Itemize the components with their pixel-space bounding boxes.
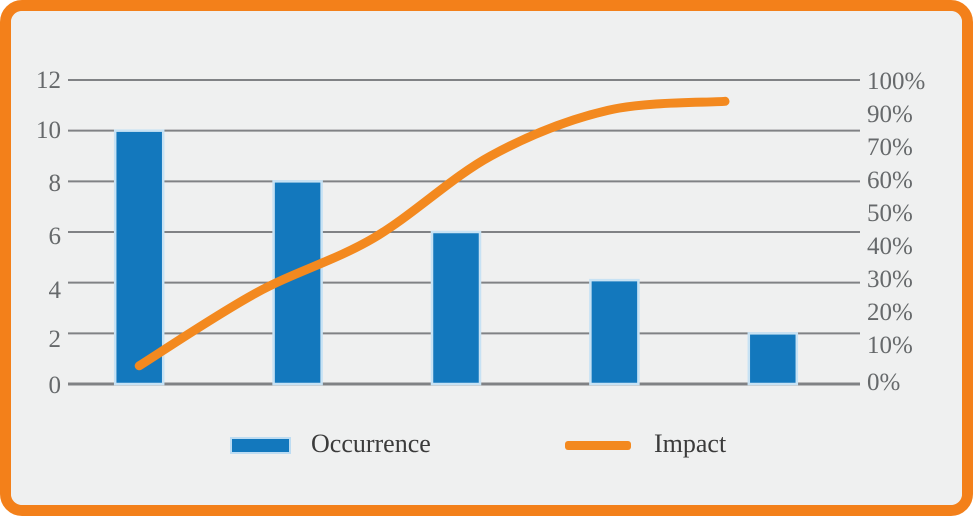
right-axis-tick-30: 30%: [867, 267, 913, 292]
legend-label-occurrence: Occurrence: [311, 431, 431, 457]
bar-group: [115, 131, 797, 384]
right-axis-tick-100: 100%: [867, 69, 925, 94]
legend-swatch-impact: [565, 441, 631, 450]
right-axis-tick-0: 0%: [867, 370, 900, 395]
right-axis-tick-50: 50%: [867, 201, 913, 226]
right-axis-tick-10: 10%: [867, 333, 913, 358]
bar-occurrence-3: [432, 232, 480, 384]
legend-label-impact: Impact: [654, 431, 726, 457]
left-axis-tick-4: 4: [19, 278, 61, 303]
left-axis-tick-6: 6: [19, 224, 61, 249]
left-axis-tick-2: 2: [19, 327, 61, 352]
right-axis-tick-70: 70%: [867, 135, 913, 160]
chart-plot-area: 12 10 8 6 4 2 0 100% 90% 70% 60% 50% 40%…: [11, 11, 962, 505]
left-axis-tick-10: 10: [19, 118, 61, 143]
chart-frame: 12 10 8 6 4 2 0 100% 90% 70% 60% 50% 40%…: [0, 0, 973, 516]
right-axis-tick-60: 60%: [867, 168, 913, 193]
right-axis-tick-20: 20%: [867, 300, 913, 325]
left-axis-tick-0: 0: [19, 373, 61, 398]
pareto-chart-graphic: [11, 11, 962, 505]
left-axis-tick-12: 12: [19, 68, 61, 93]
bar-occurrence-4: [590, 280, 638, 384]
bar-occurrence-5: [749, 333, 797, 384]
legend-swatch-occurrence: [230, 437, 291, 454]
right-axis-tick-40: 40%: [867, 234, 913, 259]
bar-occurrence-1: [115, 131, 163, 384]
right-axis-tick-90: 90%: [867, 102, 913, 127]
left-axis-tick-8: 8: [19, 171, 61, 196]
